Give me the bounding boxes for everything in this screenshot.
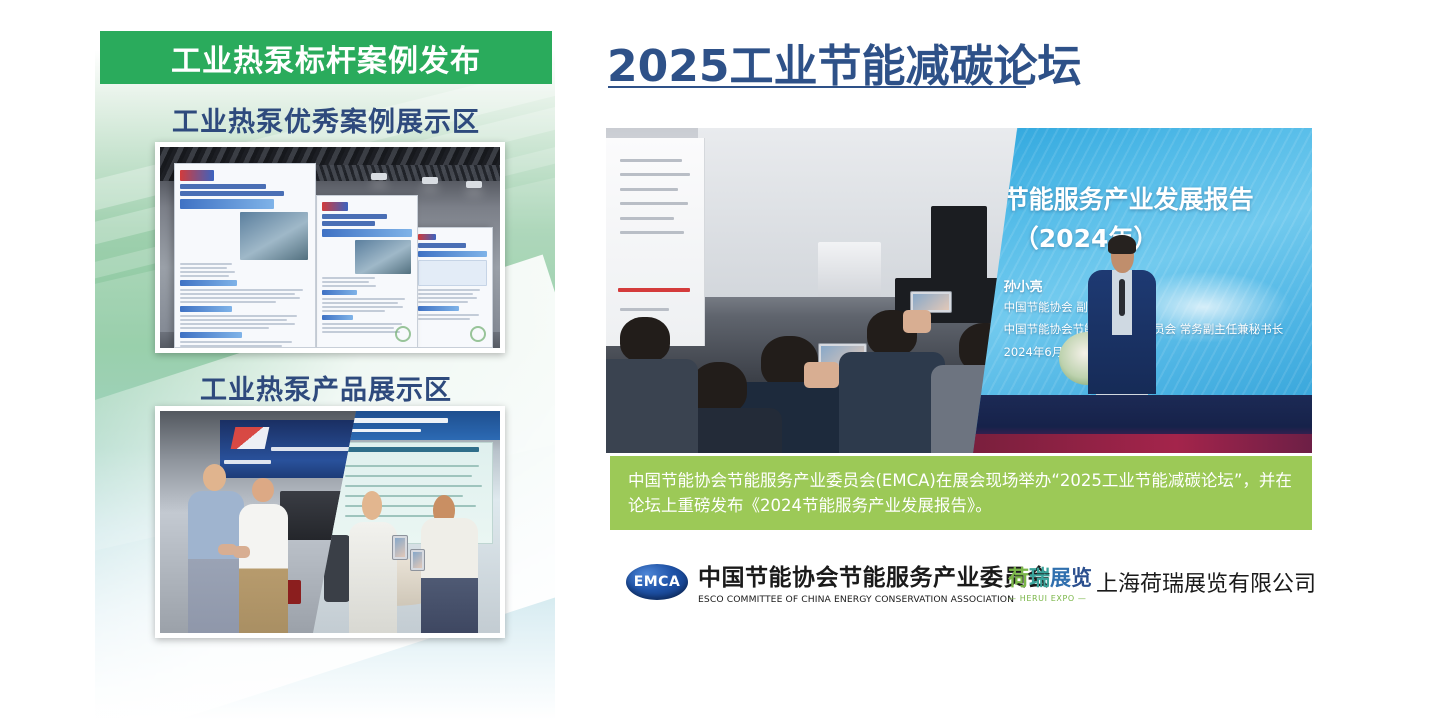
- herui-mark-char-4: 览: [1071, 566, 1092, 590]
- title-underline: [608, 86, 1026, 88]
- logo-row: EMCA 中国节能协会节能服务产业委员会 ESCO COMMITTEE OF C…: [626, 558, 1326, 612]
- emca-mark-text: EMCA: [634, 574, 681, 590]
- herui-mark-char-3: 展: [1050, 566, 1071, 590]
- presentation-slide: 节能服务产业发展报告 （2024年） 孙小亮 中国节能协会 副理事长 中国节能协…: [973, 128, 1312, 453]
- herui-mark-char-2: 瑞: [1029, 566, 1050, 590]
- section-heading-product-display: 工业热泵产品展示区: [100, 368, 552, 407]
- speaker-figure: [1082, 239, 1163, 395]
- herui-mark-en: — HERUI EXPO —: [1008, 594, 1092, 603]
- emca-name-en: ESCO COMMITTEE OF CHINA ENERGY CONSERVAT…: [698, 594, 1051, 605]
- left-panel: 工业热泵标杆案例发布 工业热泵优秀案例展示区: [95, 0, 555, 720]
- herui-mark: 荷瑞展览: [1008, 562, 1092, 592]
- slide-canvas: 工业热泵标杆案例发布 工业热泵优秀案例展示区: [0, 0, 1440, 720]
- emca-wordmark: 中国节能协会节能服务产业委员会 ESCO COMMITTEE OF CHINA …: [698, 558, 1051, 605]
- emca-badge-icon: EMCA: [626, 564, 688, 600]
- section-heading-case-display: 工业热泵优秀案例展示区: [100, 100, 552, 139]
- left-banner-title: 工业热泵标杆案例发布: [171, 36, 481, 80]
- herui-logo: 荷瑞展览 — HERUI EXPO —: [1008, 562, 1092, 603]
- forum-photo: 节能服务产业发展报告 （2024年） 孙小亮 中国节能协会 副理事长 中国节能协…: [606, 128, 1312, 453]
- herui-mark-char-1: 荷: [1008, 566, 1029, 590]
- caption-box: 中国节能协会节能服务产业委员会(EMCA)在展会现场举办“2025工业节能减碳论…: [610, 456, 1312, 530]
- caption-text: 中国节能协会节能服务产业委员会(EMCA)在展会现场举办“2025工业节能减碳论…: [628, 468, 1294, 518]
- herui-company-name: 上海荷瑞展览有限公司: [1096, 566, 1316, 598]
- photo-case-display-area: [155, 142, 505, 353]
- photo-product-display-area: [155, 406, 505, 638]
- emca-logo: EMCA: [626, 564, 688, 600]
- slide-title: 节能服务产业发展报告: [1004, 180, 1254, 216]
- slide-speaker-name: 孙小亮: [1004, 276, 1043, 295]
- left-banner: 工业热泵标杆案例发布: [100, 31, 552, 84]
- emca-name-cn: 中国节能协会节能服务产业委员会: [698, 558, 1051, 592]
- page-title: 2025工业节能减碳论坛: [607, 30, 1081, 94]
